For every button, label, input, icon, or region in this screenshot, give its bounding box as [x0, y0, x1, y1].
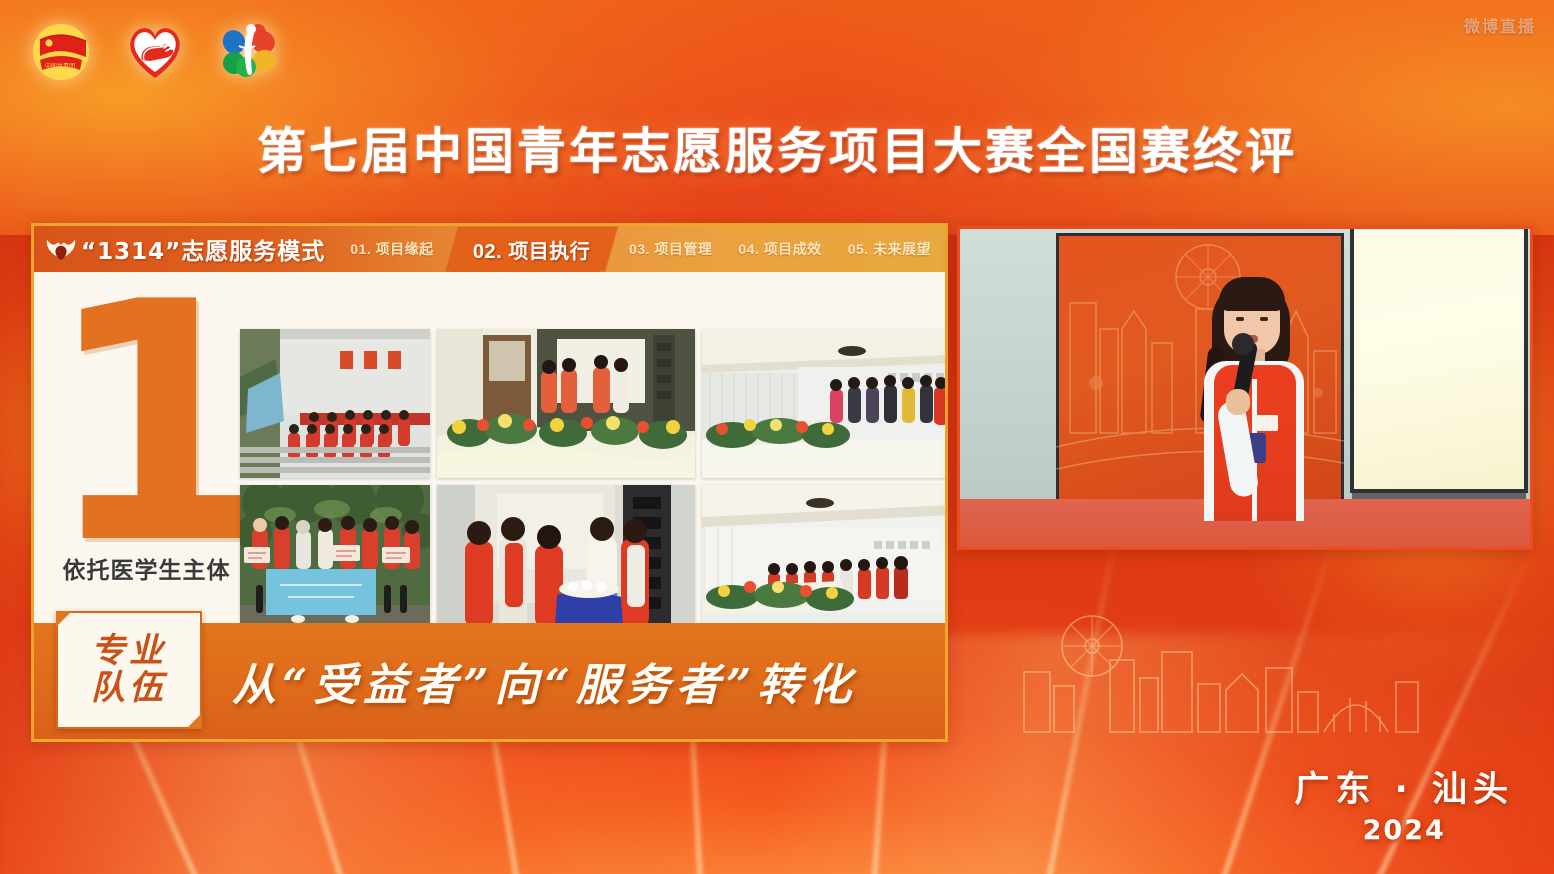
- header-logos: 中国共青团: [26, 16, 284, 86]
- badge-line-1: 专业: [91, 633, 167, 670]
- live-watermark: 微博直播: [1464, 13, 1536, 37]
- photo-volunteers-flower-table: [437, 485, 695, 634]
- slide-nav-step-04-label: 04. 项目成效: [738, 239, 821, 259]
- location-year: 2024: [1294, 815, 1514, 846]
- presenter-eye-right: [1260, 317, 1268, 321]
- page-title: 第七届中国青年志愿服务项目大赛全国赛终评: [0, 112, 1554, 183]
- photo-ceremony-hall-flowers: [437, 329, 695, 478]
- slide-nav-step-03[interactable]: 03. 项目管理: [616, 226, 725, 272]
- slide-big-number: 1: [44, 274, 249, 644]
- microphone-head: [1232, 333, 1254, 355]
- slide-nav-step-05[interactable]: 05. 未来展望: [835, 226, 944, 272]
- slide-nav-step-03-label: 03. 项目管理: [629, 239, 712, 259]
- city-skyline-silhouette: [1004, 594, 1434, 734]
- photo-memorial-hall-crowd: [702, 329, 948, 478]
- slide-nav-step-01-label: 01. 项目缘起: [350, 239, 433, 259]
- colorful-butterfly-logo: [214, 16, 284, 86]
- presenter-hand: [1226, 389, 1250, 415]
- presenter-vest-badge: [1256, 415, 1278, 431]
- svg-text:中国共青团: 中国共青团: [45, 62, 75, 70]
- photo-memorial-hall-seated: [702, 485, 948, 634]
- badge-line-2: 队伍: [91, 670, 167, 707]
- event-location: 广东 · 汕头 2024: [1294, 761, 1514, 846]
- presenter-hair-front: [1219, 277, 1285, 311]
- slide-bottom-strip: 专业 队伍 从“受益者”向“服务者”转化: [34, 623, 948, 742]
- professional-team-badge: 专业 队伍: [56, 611, 202, 729]
- video-whiteboard: [1350, 226, 1528, 493]
- presentation-slide: “1314”志愿服务模式 01. 项目缘起 02. 项目执行 03. 项目管理 …: [31, 223, 948, 742]
- photo-grid: [240, 329, 938, 634]
- slide-strip-headline: 从“受益者”向“服务者”转化: [232, 649, 931, 713]
- volunteer-heart-hand-logo: [120, 16, 190, 86]
- presenter-eye-left: [1236, 317, 1244, 321]
- photo-outdoor-banner-group: [240, 485, 430, 634]
- slide-big-number-caption: 依托医学生主体: [34, 551, 259, 585]
- slide-nav-steps: 01. 项目缘起 02. 项目执行 03. 项目管理 04. 项目成效 05. …: [337, 226, 944, 272]
- live-video-feed[interactable]: [957, 226, 1533, 550]
- slide-nav-step-01[interactable]: 01. 项目缘起: [337, 226, 446, 272]
- slide-nav-step-05-label: 05. 未来展望: [848, 239, 931, 259]
- location-city: 广东 · 汕头: [1294, 761, 1514, 812]
- slide-nav-step-02[interactable]: 02. 项目执行: [444, 226, 619, 272]
- photo-volunteers-on-steps: [240, 329, 430, 478]
- slide-nav-step-02-label: 02. 项目执行: [473, 235, 590, 264]
- slide-nav-step-04[interactable]: 04. 项目成效: [725, 226, 834, 272]
- communist-youth-league-emblem: 中国共青团: [26, 16, 96, 86]
- video-right-wall-strip: [1532, 229, 1533, 479]
- slide-body: 1 依托医学生主体: [34, 272, 945, 742]
